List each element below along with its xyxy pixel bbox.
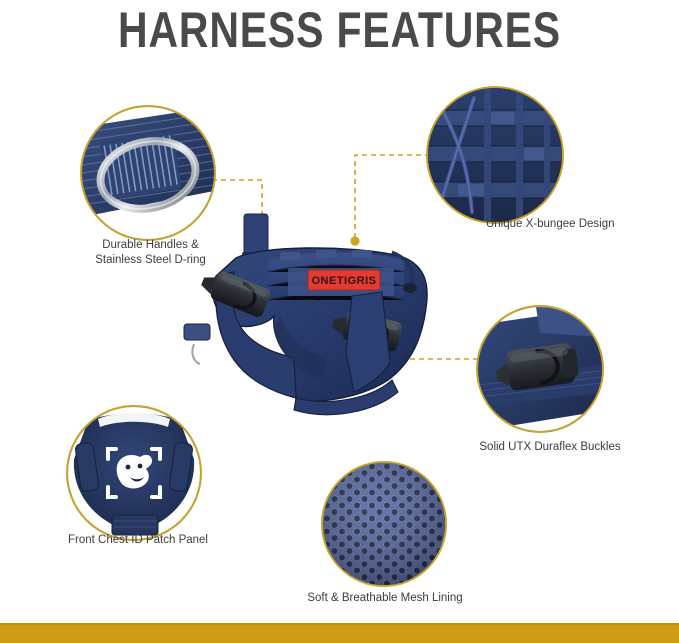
callout-image-utx-buckles (478, 307, 602, 431)
cord-lock (403, 283, 417, 293)
callout-label-mesh-lining: Soft & Breathable Mesh Lining (285, 591, 485, 606)
callout-image-x-bungee (428, 88, 562, 222)
page-title: HARNESS FEATURES (61, 2, 618, 58)
callout-image-mesh-lining (323, 463, 445, 585)
callout-label-utx-buckles: Solid UTX Duraflex Buckles (455, 440, 645, 455)
callout-label-line1: Unique X-bungee Design (486, 217, 676, 232)
adjuster-left (184, 324, 210, 340)
callout-label-durable-handles: Durable Handles & Stainless Steel D-ring (58, 238, 243, 268)
callout-label-line1: Front Chest ID Patch Panel (48, 533, 228, 548)
callout-label-chest-id-panel: Front Chest ID Patch Panel (48, 533, 228, 548)
callout-label-x-bungee: Unique X-bungee Design (486, 217, 676, 232)
metal-clip (192, 344, 200, 364)
brand-patch: ONETIGRIS (308, 270, 380, 290)
infographic-canvas: HARNESS FEATURES (0, 0, 679, 643)
callout-label-line1: Solid UTX Duraflex Buckles (455, 440, 645, 455)
bottom-accent-bar (0, 623, 679, 643)
brand-patch-text: ONETIGRIS (311, 275, 376, 287)
callout-label-line1: Soft & Breathable Mesh Lining (285, 591, 485, 606)
callout-label-line1: Durable Handles & (58, 238, 243, 253)
callout-label-line2: Stainless Steel D-ring (58, 253, 243, 268)
